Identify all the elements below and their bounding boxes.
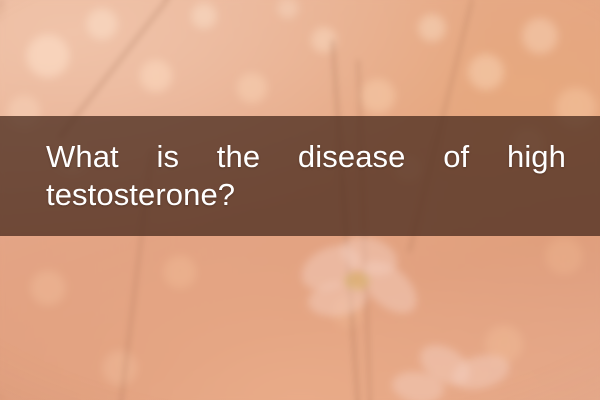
- flower-center: [344, 272, 370, 290]
- caption-overlay-band: What is the disease of high testosterone…: [0, 116, 600, 236]
- caption-question-text: What is the disease of high testosterone…: [46, 138, 566, 214]
- screenshot-canvas: What is the disease of high testosterone…: [0, 0, 600, 400]
